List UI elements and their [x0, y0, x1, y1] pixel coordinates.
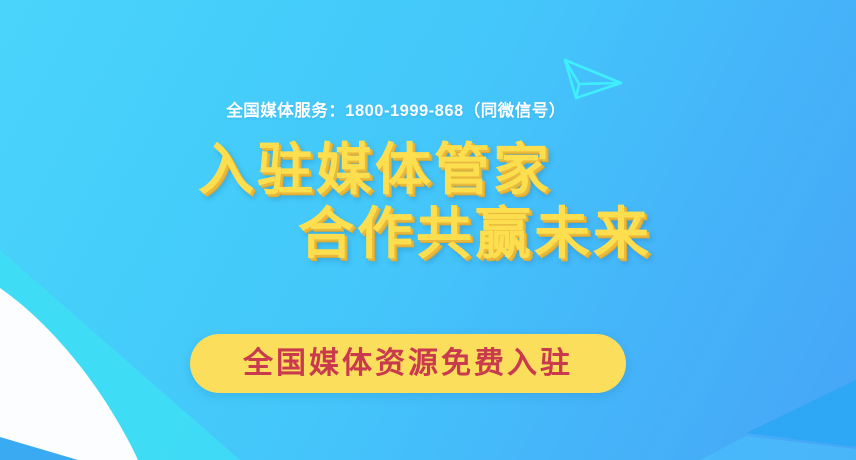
service-hotline-text: 全国媒体服务：1800-1999-868（同微信号）: [0, 100, 792, 122]
headline-block: 入驻媒体管家 合作共赢未来: [0, 138, 856, 266]
headline-line-2: 合作共赢未来: [0, 202, 856, 266]
white-sweep-shape: [0, 288, 138, 460]
promo-banner: 全国媒体服务：1800-1999-868（同微信号） 入驻媒体管家 合作共赢未来…: [0, 0, 856, 460]
blue-triangle-right: [746, 380, 856, 447]
free-join-cta-button[interactable]: 全国媒体资源免费入驻: [190, 334, 626, 393]
blue-corner-triangle-left: [0, 437, 78, 460]
light-band-bottom-right: [700, 436, 856, 460]
headline-line-1: 入驻媒体管家: [0, 138, 856, 202]
paper-plane-icon: [556, 46, 628, 106]
